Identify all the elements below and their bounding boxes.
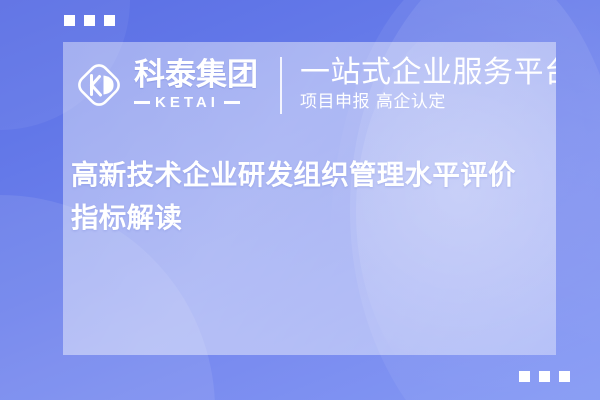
header-vertical-divider xyxy=(280,57,282,114)
decorative-dots-top-left xyxy=(64,15,115,26)
brand-text-block: 科泰集团 KETAI xyxy=(134,60,258,110)
brand-name-en: KETAI xyxy=(155,95,219,110)
square-dot-icon xyxy=(539,371,550,382)
square-dot-icon xyxy=(559,371,570,382)
promo-banner: 科泰集团 KETAI 一站式企业服务平台 项目申报 高企认定 高新技术企业研发组… xyxy=(0,0,600,400)
ketai-diamond-kd-logo-icon xyxy=(72,58,126,112)
slogan-secondary: 项目申报 高企认定 xyxy=(300,92,548,113)
brand-lockup: 科泰集团 KETAI xyxy=(72,58,258,112)
translucent-content-card: 科泰集团 KETAI 一站式企业服务平台 项目申报 高企认定 高新技术企业研发组… xyxy=(63,42,556,355)
slogan-primary: 一站式企业服务平台 xyxy=(300,57,548,89)
brand-name-en-row: KETAI xyxy=(134,95,258,110)
brand-rule-left-icon xyxy=(134,101,150,104)
square-dot-icon xyxy=(64,15,75,26)
brand-name-cn: 科泰集团 xyxy=(134,60,258,91)
brand-rule-right-icon xyxy=(224,101,240,104)
slogan-block: 一站式企业服务平台 项目申报 高企认定 xyxy=(300,57,548,114)
banner-header-row: 科泰集团 KETAI 一站式企业服务平台 项目申报 高企认定 xyxy=(72,49,548,121)
square-dot-icon xyxy=(519,371,530,382)
square-dot-icon xyxy=(104,15,115,26)
square-dot-icon xyxy=(84,15,95,26)
page-title: 高新技术企业研发组织管理水平评价指标解读 xyxy=(71,154,541,240)
decorative-dots-bottom-right xyxy=(519,371,570,382)
